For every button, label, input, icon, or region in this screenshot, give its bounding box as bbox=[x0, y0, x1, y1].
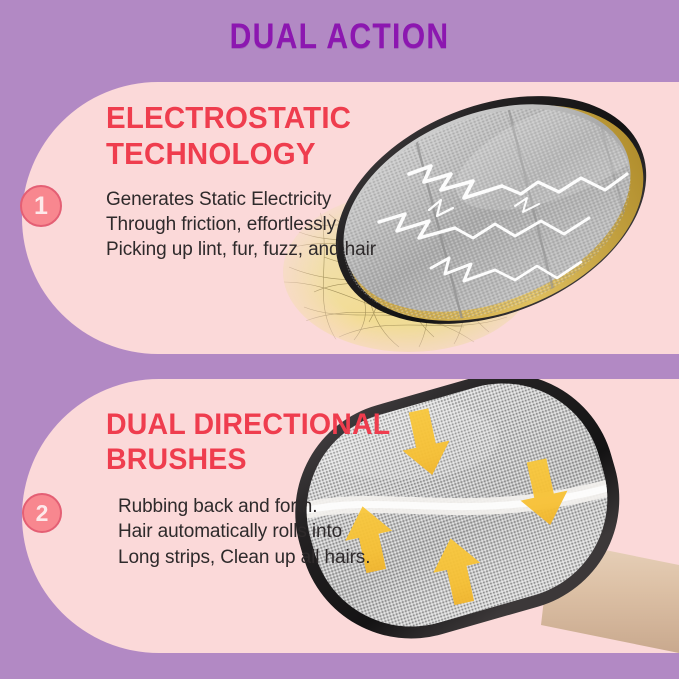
feature-card-dual-directional: DUAL DIRECTIONAL BRUSHES Rubbing back an… bbox=[22, 379, 679, 653]
card-2-body: Rubbing back and forth. Hair automatical… bbox=[118, 494, 405, 570]
step-badge-1: 1 bbox=[20, 185, 62, 227]
page-title: DUAL ACTION bbox=[48, 19, 632, 56]
step-badge-2: 2 bbox=[22, 493, 62, 533]
arrow-down-icon-2 bbox=[513, 455, 574, 530]
lightning-bolt-icon bbox=[379, 166, 627, 281]
card-2-heading: DUAL DIRECTIONAL BRUSHES bbox=[106, 407, 390, 477]
card-2-text-block: DUAL DIRECTIONAL BRUSHES Rubbing back an… bbox=[106, 407, 405, 570]
card-1-heading: ELECTROSTATIC TECHNOLOGY bbox=[106, 100, 362, 173]
infographic-page: DUAL ACTION bbox=[0, 0, 679, 679]
hand-holding-brush bbox=[541, 539, 679, 653]
card-1-body: Generates Static Electricity Through fri… bbox=[106, 187, 376, 263]
feature-card-electrostatic: ELECTROSTATIC TECHNOLOGY Generates Stati… bbox=[22, 82, 679, 354]
arrow-up-icon-2 bbox=[427, 533, 488, 608]
card-1-text-block: ELECTROSTATIC TECHNOLOGY Generates Stati… bbox=[106, 100, 376, 262]
